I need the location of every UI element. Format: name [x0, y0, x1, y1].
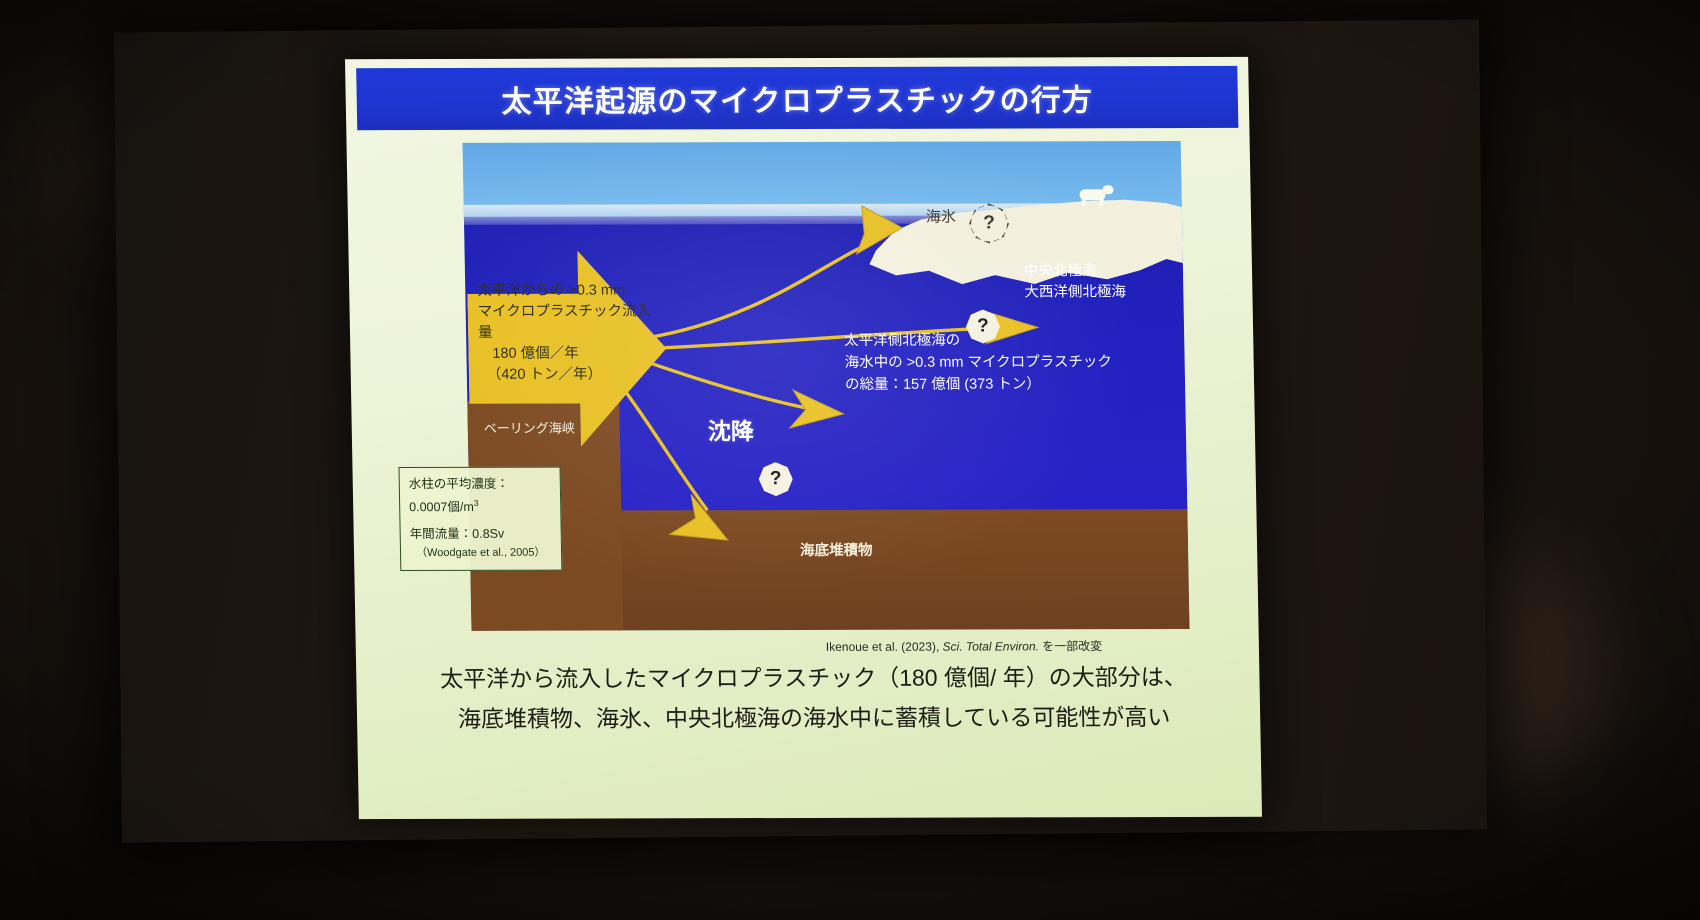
- polar-bear-icon: [1075, 185, 1113, 205]
- label-central-arctic: 中央北極海 大西洋側北極海: [1024, 261, 1126, 303]
- label-pacific-arctic-line1: 太平洋側北極海の: [844, 329, 1112, 352]
- citation-prefix: Ikenoue et al. (2023),: [826, 640, 943, 654]
- citation-suffix: を一部改変: [1039, 639, 1103, 653]
- pacific-inflow-arrow-label: 太平洋からの >0.3 mm マイクロプラスチック流入量 180 億個／年 （4…: [477, 280, 659, 385]
- schematic-figure: 太平洋からの >0.3 mm マイクロプラスチック流入量 180 億個／年 （4…: [463, 141, 1190, 631]
- label-bering-strait: ベーリング海峡: [484, 419, 575, 438]
- info-line-2-text: 0.0007個/m: [409, 500, 474, 514]
- slide-caption: 太平洋から流入したマイクロプラスチック（180 億個/ 年）の大部分は、 海底堆…: [408, 657, 1220, 739]
- inflow-line-1: 太平洋からの >0.3 mm: [477, 280, 657, 301]
- info-line-2: 0.0007個/m3: [409, 494, 551, 518]
- info-line-1: 水柱の平均濃度：: [409, 475, 551, 494]
- caption-line-1: 太平洋から流入したマイクロプラスチック（180 億個/ 年）の大部分は、: [408, 657, 1219, 699]
- projected-slide: 太平洋起源のマイクロプラスチックの行方: [345, 57, 1262, 819]
- question-mark-glyph-1: ?: [983, 213, 995, 235]
- label-pacific-arctic: 太平洋側北極海の 海水中の >0.3 mm マイクロプラスチック の総量：157…: [844, 329, 1113, 396]
- question-mark-glyph-3: ?: [770, 468, 782, 490]
- slide-title-bar: 太平洋起源のマイクロプラスチックの行方: [356, 66, 1238, 130]
- inflow-line-3: 180 億個／年: [478, 343, 658, 364]
- inflow-line-4: （420 トン／年）: [479, 364, 659, 385]
- label-central-arctic-line1: 中央北極海: [1024, 261, 1126, 282]
- label-pacific-arctic-line2: 海水中の >0.3 mm マイクロプラスチック: [844, 351, 1112, 374]
- label-central-arctic-line2: 大西洋側北極海: [1024, 282, 1126, 303]
- info-line-4: （Woodgate et al., 2005）: [410, 544, 552, 563]
- water-column-info-box: 水柱の平均濃度： 0.0007個/m3 年間流量：0.8Sv （Woodgate…: [398, 467, 562, 571]
- info-line-3: 年間流量：0.8Sv: [410, 525, 552, 544]
- figure-citation: Ikenoue et al. (2023), Sci. Total Enviro…: [826, 637, 1103, 655]
- room-photo: 太平洋起源のマイクロプラスチックの行方: [0, 0, 1700, 920]
- label-seafloor-sediment: 海底堆積物: [800, 542, 873, 561]
- info-line-2-superscript: 3: [474, 498, 479, 508]
- slide-canvas: 太平洋起源のマイクロプラスチックの行方: [345, 57, 1262, 819]
- citation-journal: Sci. Total Environ.: [942, 639, 1039, 653]
- label-sea-ice: 海氷: [926, 208, 956, 227]
- caption-line-2: 海底堆積物、海氷、中央北極海の海水中に蓄積している可能性が高い: [409, 697, 1220, 739]
- inflow-line-2: マイクロプラスチック流入量: [477, 301, 658, 343]
- label-pacific-arctic-line3: の総量：157 億個 (373 トン）: [845, 373, 1113, 396]
- page-title: 太平洋起源のマイクロプラスチックの行方: [501, 75, 1093, 121]
- label-sinking: 沈降: [708, 422, 754, 441]
